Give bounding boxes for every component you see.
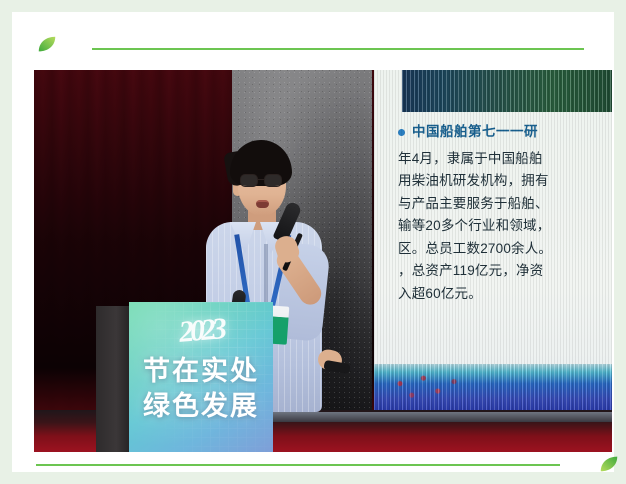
podium-sign: 2023 节在实处 绿色发展 杭州市节能降碳创新研讨会 暨节能新技术新装备推介会 (129, 302, 273, 452)
slide-top-image (402, 70, 612, 112)
leaf-icon (598, 452, 620, 474)
slide-body-line: 与产品主要服务于船舶、 (398, 194, 612, 215)
podium-side-panel (96, 306, 130, 452)
slide-body-line: 区。总员工数2700余人。 (398, 239, 612, 260)
podium-title-line-1: 节在实处 (129, 354, 273, 389)
speaker-mouth (256, 200, 269, 208)
slide-bullet-heading: 中国船舶第七一一研 (398, 122, 612, 143)
conference-photo: 中国船舶第七一一研 年4月，隶属于中国船舶 用柴油机研发机构，拥有 与产品主要服… (34, 70, 612, 452)
page-root: 中国船舶第七一一研 年4月，隶属于中国船舶 用柴油机研发机构，拥有 与产品主要服… (0, 0, 626, 484)
content-card: 中国船舶第七一一研 年4月，隶属于中国船舶 用柴油机研发机构，拥有 与产品主要服… (12, 12, 614, 472)
slide-body-line: 年4月，隶属于中国船舶 (398, 149, 612, 170)
presentation-clicker (323, 360, 350, 374)
slide-heading-text: 中国船舶第七一一研 (412, 122, 538, 143)
divider-top (92, 48, 584, 50)
glasses-lens-left (240, 174, 258, 187)
slide-body-line: 用柴油机研发机构，拥有 (398, 171, 612, 192)
glasses-icon (240, 174, 284, 187)
glasses-lens-right (264, 174, 282, 187)
podium-title-line-2: 绿色发展 (129, 389, 273, 424)
slide-text-block: 中国船舶第七一一研 年4月，隶属于中国船舶 用柴油机研发机构，拥有 与产品主要服… (398, 122, 612, 306)
projection-screen: 中国船舶第七一一研 年4月，隶属于中国船舶 用柴油机研发机构，拥有 与产品主要服… (374, 70, 612, 422)
slide-body-line: 输等20多个行业和领域， (398, 216, 612, 237)
slide-bottom-image-detail (382, 370, 472, 404)
bullet-dot-icon (398, 129, 405, 136)
slide-body-line: ，总资产119亿元，净资 (398, 261, 612, 282)
podium-title: 节在实处 绿色发展 (129, 354, 273, 423)
leaf-icon (36, 34, 58, 56)
slide-body-line: 入超60亿元。 (398, 284, 612, 305)
divider-bottom (36, 464, 560, 466)
